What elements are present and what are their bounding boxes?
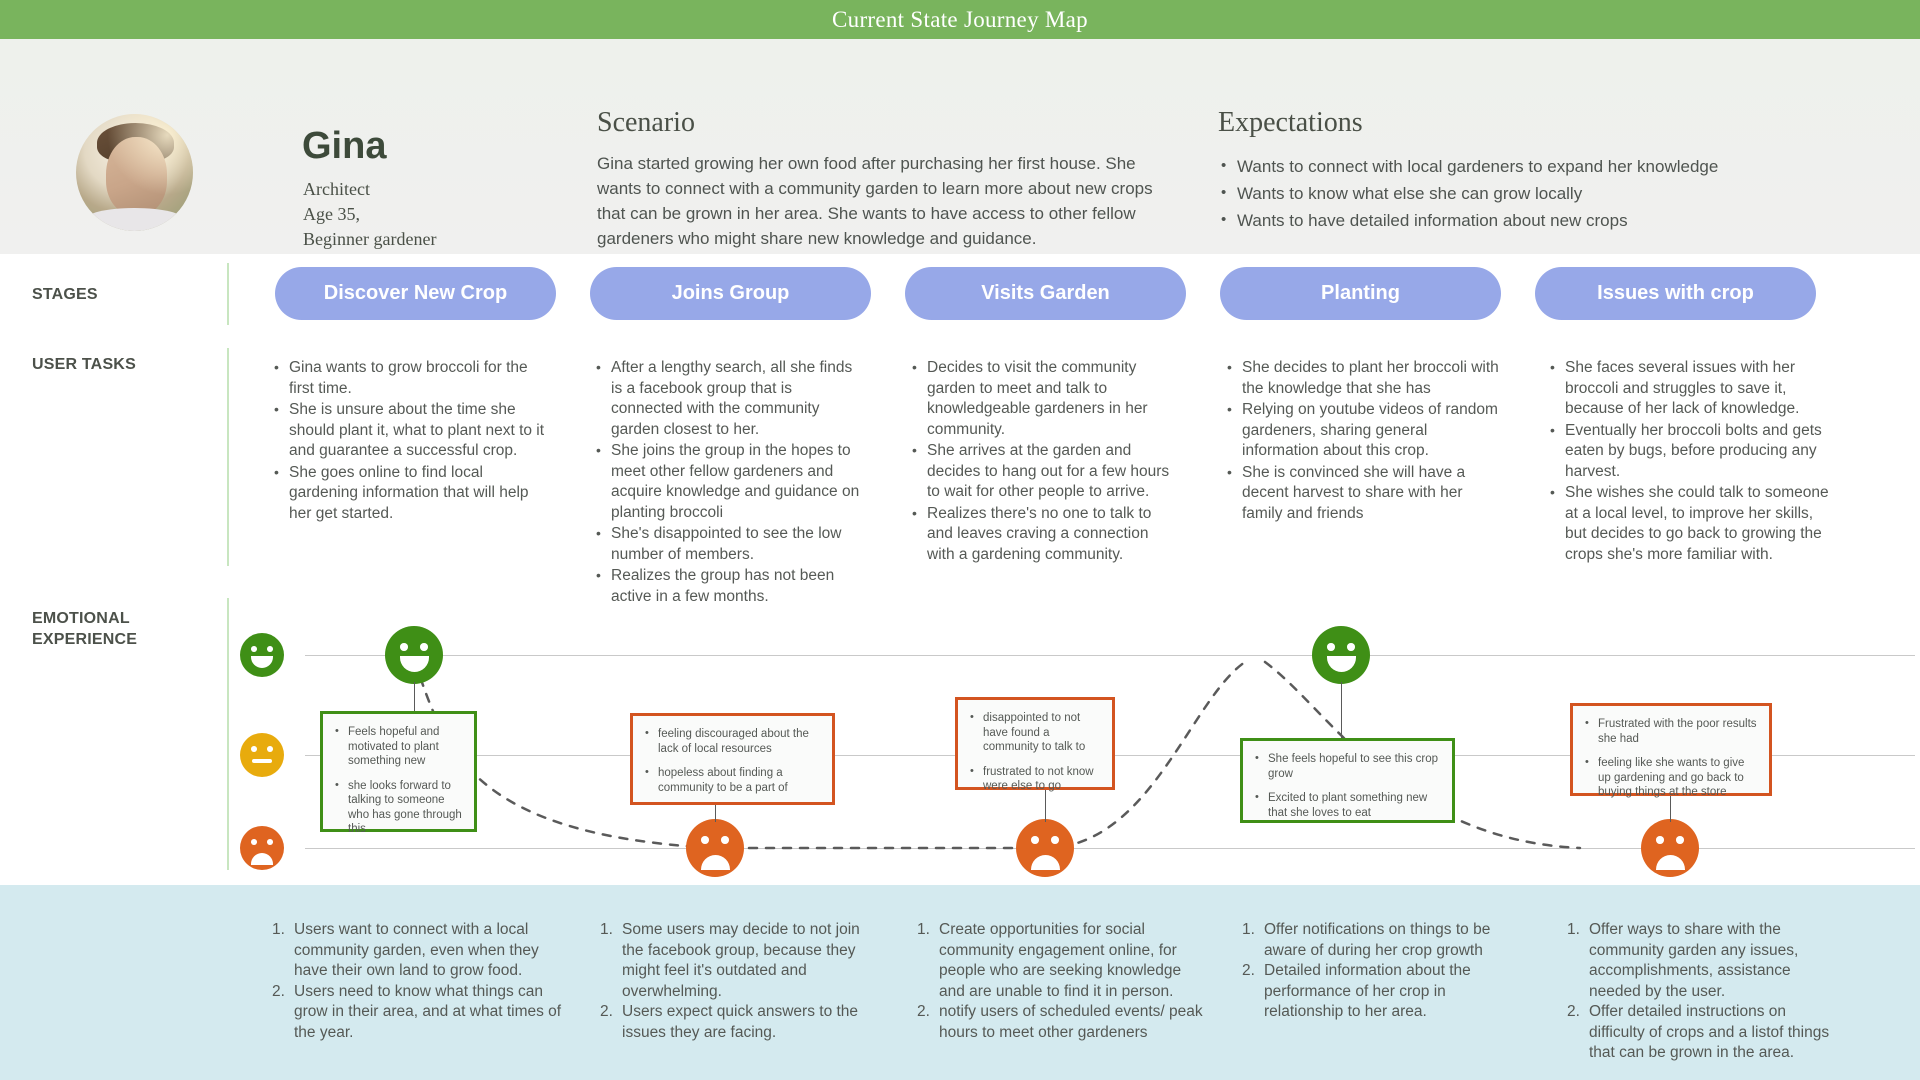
list-item: Frustrated with the poor results she had xyxy=(1584,717,1757,746)
avatar-glow xyxy=(76,114,193,231)
list-item: She arrives at the garden and decides to… xyxy=(910,441,1178,503)
divider-stages xyxy=(227,263,229,325)
emotion-point-visits-garden[interactable] xyxy=(1016,819,1074,877)
expectations-list: Wants to connect with local gardeners to… xyxy=(1218,153,1898,234)
user-tasks-list: After a lengthy search, all she finds is… xyxy=(594,358,862,607)
avatar xyxy=(76,114,193,231)
neutral-face-icon xyxy=(240,733,284,777)
happy-face-icon xyxy=(240,633,284,677)
mouth xyxy=(252,759,271,763)
scenario-heading: Scenario xyxy=(597,107,1177,139)
list-item: She wishes she could talk to someone at … xyxy=(1548,483,1830,565)
insights-list: Offer notifications on things to be awar… xyxy=(1240,920,1512,1023)
emotion-callout-5: Frustrated with the poor results she had… xyxy=(1570,703,1772,796)
mouth xyxy=(251,853,273,864)
eye-left xyxy=(1327,643,1335,651)
list-item: After a lengthy search, all she finds is… xyxy=(594,358,862,440)
eye-left xyxy=(1031,836,1039,844)
list-item: Users want to connect with a local commu… xyxy=(270,920,570,982)
eye-right xyxy=(1347,643,1355,651)
list-item: Users expect quick answers to the issues… xyxy=(598,1002,870,1043)
list-item: notify users of scheduled events/ peak h… xyxy=(915,1002,1205,1043)
list-item: Excited to plant something new that she … xyxy=(1254,791,1440,820)
insights-list: Create opportunities for social communit… xyxy=(915,920,1205,1043)
stage-pill-discover-new-crop[interactable]: Discover New Crop xyxy=(275,267,556,320)
eye-left xyxy=(1656,836,1664,844)
scenario-body: Gina started growing her own food after … xyxy=(597,151,1159,251)
eye-right xyxy=(267,746,273,752)
persona-band: Gina Architect Age 35, Beginner gardener… xyxy=(0,39,1920,254)
list-item: feeling like she wants to give up garden… xyxy=(1584,756,1757,800)
user-tasks-list: She faces several issues with her brocco… xyxy=(1548,358,1830,565)
insights-column-2: Some users may decide to not join the fa… xyxy=(598,920,870,1043)
list-item: Relying on youtube videos of random gard… xyxy=(1225,400,1505,462)
list-item: Gina wants to grow broccoli for the firs… xyxy=(272,358,550,399)
insights-band: Users want to connect with a local commu… xyxy=(0,885,1920,1080)
list-item: She feels hopeful to see this crop grow xyxy=(1254,752,1440,781)
list-item: Offer ways to share with the community g… xyxy=(1565,920,1837,1002)
callout-list: She feels hopeful to see this crop grow … xyxy=(1243,741,1452,831)
sad-face-icon xyxy=(240,826,284,870)
mouth xyxy=(400,656,429,672)
insights-column-4: Offer notifications on things to be awar… xyxy=(1240,920,1512,1023)
list-item: Offer notifications on things to be awar… xyxy=(1240,920,1512,961)
stage-pill-label: Visits Garden xyxy=(981,282,1110,305)
list-item: She faces several issues with her brocco… xyxy=(1548,358,1830,420)
mouth xyxy=(1656,855,1685,870)
insights-list: Some users may decide to not join the fa… xyxy=(598,920,870,1043)
emotion-callout-2: feeling discouraged about the lack of lo… xyxy=(630,713,835,805)
user-tasks-column-5: She faces several issues with her brocco… xyxy=(1548,358,1830,566)
eye-left xyxy=(251,839,257,845)
insights-column-1: Users want to connect with a local commu… xyxy=(270,920,570,1043)
insights-column-3: Create opportunities for social communit… xyxy=(915,920,1205,1043)
gridline-happy xyxy=(305,655,1915,656)
callout-stem-4 xyxy=(1341,682,1342,738)
persona-role: Architect xyxy=(303,177,436,202)
list-item: Wants to know what else she can grow loc… xyxy=(1218,180,1898,207)
eye-right xyxy=(1676,836,1684,844)
stage-pill-label: Issues with crop xyxy=(1597,282,1754,305)
eye-left xyxy=(251,746,257,752)
callout-list: Frustrated with the poor results she had… xyxy=(1573,706,1769,811)
user-tasks-list: Decides to visit the community garden to… xyxy=(910,358,1178,565)
persona-name: Gina xyxy=(302,125,386,168)
list-item: hopeless about finding a community to be… xyxy=(644,766,820,795)
callout-stem-1 xyxy=(414,682,415,711)
row-label-user-tasks: USER TASKS xyxy=(32,354,136,375)
expectations-heading: Expectations xyxy=(1218,107,1898,139)
user-tasks-list: She decides to plant her broccoli with t… xyxy=(1225,358,1505,524)
user-tasks-column-3: Decides to visit the community garden to… xyxy=(910,358,1178,566)
journey-map-page: Current State Journey Map Gina Architect… xyxy=(0,0,1920,1080)
stage-pill-visits-garden[interactable]: Visits Garden xyxy=(905,267,1186,320)
eye-left xyxy=(251,646,257,652)
user-tasks-column-1: Gina wants to grow broccoli for the firs… xyxy=(272,358,550,525)
stage-pill-label: Discover New Crop xyxy=(324,282,507,305)
list-item: She goes online to find local gardening … xyxy=(272,463,550,525)
list-item: She joins the group in the hopes to meet… xyxy=(594,441,862,523)
list-item: disappointed to not have found a communi… xyxy=(969,711,1100,755)
eye-right xyxy=(1051,836,1059,844)
persona-details: Architect Age 35, Beginner gardener xyxy=(303,177,436,252)
insights-list: Users want to connect with a local commu… xyxy=(270,920,570,1043)
list-item: Detailed information about the performan… xyxy=(1240,961,1512,1023)
divider-user-tasks xyxy=(227,348,229,566)
list-item: she looks forward to talking to someone … xyxy=(334,779,462,837)
callout-list: Feels hopeful and motivated to plant som… xyxy=(323,714,474,848)
eye-right xyxy=(267,839,273,845)
list-item: She is convinced she will have a decent … xyxy=(1225,463,1505,525)
row-label-stages: STAGES xyxy=(32,284,98,305)
list-item: frustrated to not know were else to go xyxy=(969,765,1100,794)
user-tasks-column-2: After a lengthy search, all she finds is… xyxy=(594,358,862,608)
list-item: She decides to plant her broccoli with t… xyxy=(1225,358,1505,399)
eye-left xyxy=(400,643,408,651)
insights-list: Offer ways to share with the community g… xyxy=(1565,920,1837,1064)
list-item: Wants to connect with local gardeners to… xyxy=(1218,153,1898,180)
stage-pill-label: Joins Group xyxy=(672,282,790,305)
list-item: Eventually her broccoli bolts and gets e… xyxy=(1548,421,1830,483)
list-item: She's disappointed to see the low number… xyxy=(594,524,862,565)
emotion-callout-1: Feels hopeful and motivated to plant som… xyxy=(320,711,477,832)
list-item: Feels hopeful and motivated to plant som… xyxy=(334,725,462,769)
stage-pill-label: Planting xyxy=(1321,282,1400,305)
page-title: Current State Journey Map xyxy=(832,7,1088,33)
list-item: Wants to have detailed information about… xyxy=(1218,207,1898,234)
page-title-bar: Current State Journey Map xyxy=(0,0,1920,39)
callout-list: feeling discouraged about the lack of lo… xyxy=(633,716,832,806)
emotion-callout-4: She feels hopeful to see this crop grow … xyxy=(1240,738,1455,823)
eye-left xyxy=(701,836,709,844)
emotion-point-issues-with-crop[interactable] xyxy=(1641,819,1699,877)
persona-age: Age 35, xyxy=(303,202,436,227)
list-item: Offer detailed instructions on difficult… xyxy=(1565,1002,1837,1064)
list-item: Some users may decide to not join the fa… xyxy=(598,920,870,1002)
user-tasks-list: Gina wants to grow broccoli for the firs… xyxy=(272,358,550,524)
persona-level: Beginner gardener xyxy=(303,227,436,252)
eye-right xyxy=(420,643,428,651)
emotion-point-discover-new-crop[interactable] xyxy=(385,626,443,684)
mouth xyxy=(1031,855,1060,870)
emotion-point-planting[interactable] xyxy=(1312,626,1370,684)
mouth xyxy=(701,855,730,870)
callout-list: disappointed to not have found a communi… xyxy=(958,700,1112,805)
insights-column-5: Offer ways to share with the community g… xyxy=(1565,920,1837,1064)
expectations-block: Expectations Wants to connect with local… xyxy=(1218,107,1898,234)
emotion-point-joins-group[interactable] xyxy=(686,819,744,877)
list-item: Create opportunities for social communit… xyxy=(915,920,1205,1002)
list-item: Realizes there's no one to talk to and l… xyxy=(910,504,1178,566)
emotional-experience-section: Feels hopeful and motivated to plant som… xyxy=(0,600,1920,880)
mouth xyxy=(251,656,273,668)
eye-right xyxy=(721,836,729,844)
stage-pill-issues-with-crop[interactable]: Issues with crop xyxy=(1535,267,1816,320)
list-item: Decides to visit the community garden to… xyxy=(910,358,1178,440)
list-item: She is unsure about the time she should … xyxy=(272,400,550,462)
user-tasks-column-4: She decides to plant her broccoli with t… xyxy=(1225,358,1505,525)
emotion-callout-3: disappointed to not have found a communi… xyxy=(955,697,1115,790)
scenario-block: Scenario Gina started growing her own fo… xyxy=(597,107,1177,251)
stage-pill-planting[interactable]: Planting xyxy=(1220,267,1501,320)
list-item: feeling discouraged about the lack of lo… xyxy=(644,727,820,756)
stage-pill-joins-group[interactable]: Joins Group xyxy=(590,267,871,320)
list-item: Users need to know what things can grow … xyxy=(270,982,570,1044)
eye-right xyxy=(267,646,273,652)
mouth xyxy=(1327,656,1356,672)
